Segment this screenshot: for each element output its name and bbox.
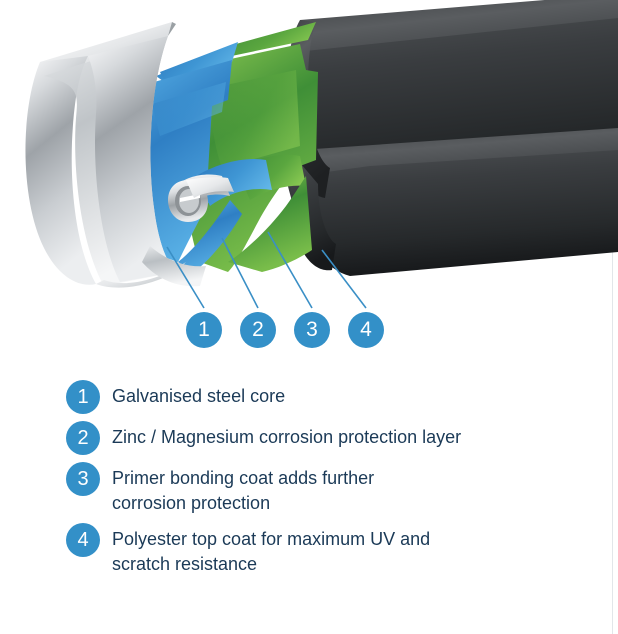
legend-label-2: Zinc / Magnesium corrosion protection la… [112,421,461,450]
legend-item-1[interactable]: 1 Galvanised steel core [66,380,611,414]
legend-label-3: Primer bonding coat adds further corrosi… [112,462,374,516]
legend-item-4[interactable]: 4 Polyester top coat for maximum UV and … [66,523,611,577]
legend-list: 1 Galvanised steel core 2 Zinc / Magnesi… [66,380,611,584]
legend-badge-1: 1 [66,380,100,414]
legend-item-2[interactable]: 2 Zinc / Magnesium corrosion protection … [66,421,611,455]
layer-polyester-topcoat [286,0,618,276]
legend-label-1: Galvanised steel core [112,380,285,409]
callout-badge-4[interactable]: 4 [348,312,384,348]
callout-badge-2[interactable]: 2 [240,312,276,348]
legend-item-3[interactable]: 3 Primer bonding coat adds further corro… [66,462,611,516]
callout-badge-3[interactable]: 3 [294,312,330,348]
legend-badge-2: 2 [66,421,100,455]
legend-badge-4: 4 [66,523,100,557]
legend-label-4: Polyester top coat for maximum UV and sc… [112,523,430,577]
legend-badge-3: 3 [66,462,100,496]
callout-badge-1[interactable]: 1 [186,312,222,348]
diagram-page: 1 2 3 4 1 Galvanised steel core 2 Zinc /… [0,0,618,634]
